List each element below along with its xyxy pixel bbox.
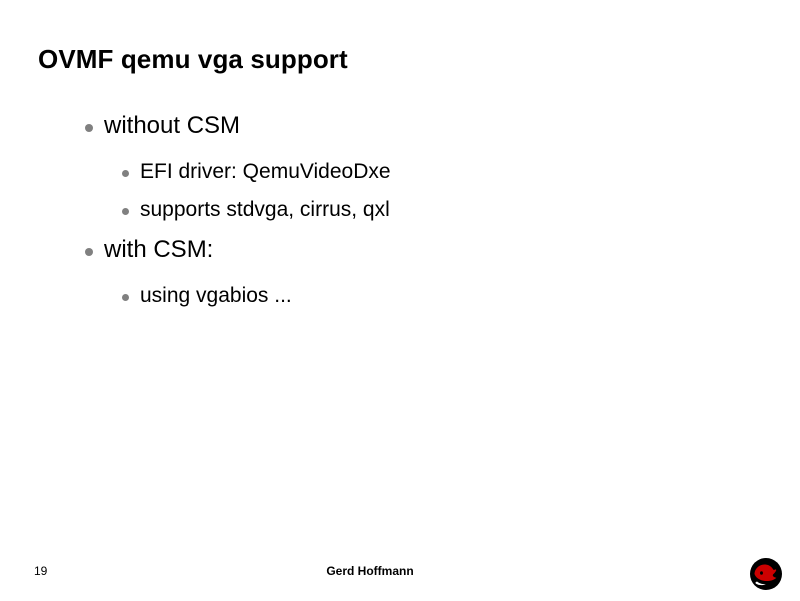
bullet-item-level2: using vgabios ... — [0, 282, 800, 320]
bullet-marker-icon — [85, 124, 93, 132]
bullet-text: with CSM: — [104, 234, 213, 266]
bullet-text: using vgabios ... — [140, 282, 292, 310]
slide-body-bullet-list: without CSM EFI driver: QemuVideoDxe sup… — [0, 110, 800, 320]
presentation-slide: OVMF qemu vga support without CSM EFI dr… — [0, 0, 800, 600]
bullet-marker-icon — [122, 294, 129, 301]
bullet-item-level1: without CSM — [0, 110, 800, 158]
slide-footer: 19 Gerd Hoffmann — [0, 554, 800, 600]
bullet-text: EFI driver: QemuVideoDxe — [140, 158, 391, 186]
red-hat-shadowman-logo-icon — [744, 556, 788, 596]
bullet-item-level1: with CSM: — [0, 234, 800, 282]
author-name: Gerd Hoffmann — [0, 564, 740, 578]
bullet-marker-icon — [122, 170, 129, 177]
bullet-text: supports stdvga, cirrus, qxl — [140, 196, 390, 224]
bullet-item-level2: supports stdvga, cirrus, qxl — [0, 196, 800, 234]
bullet-marker-icon — [85, 248, 93, 256]
bullet-marker-icon — [122, 208, 129, 215]
bullet-text: without CSM — [104, 110, 240, 142]
slide-title: OVMF qemu vga support — [38, 44, 348, 75]
bullet-item-level2: EFI driver: QemuVideoDxe — [0, 158, 800, 196]
